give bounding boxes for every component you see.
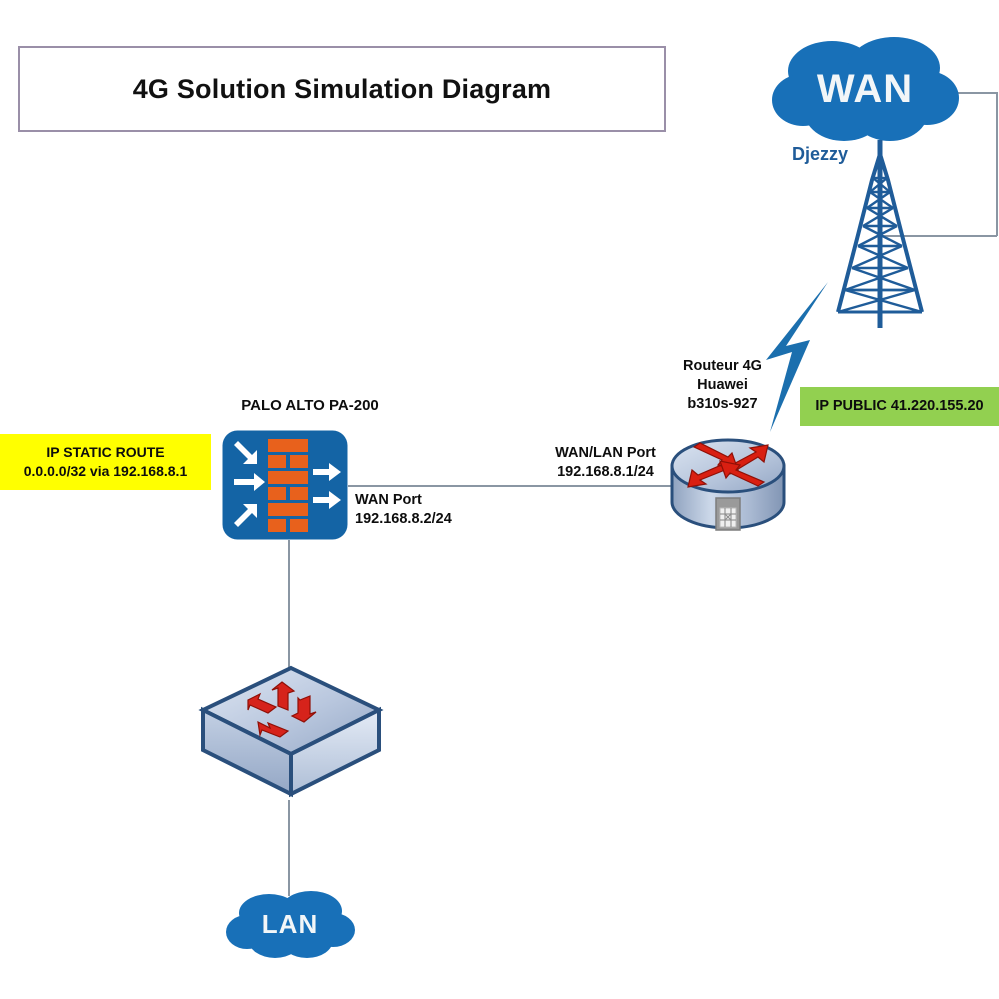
firewall-label-wrap: PALO ALTO PA-200 <box>180 396 440 415</box>
cell-tower <box>820 140 940 335</box>
static-route-callout: IP STATIC ROUTE 0.0.0.0/32 via 192.168.8… <box>0 434 211 490</box>
firewall-port-label-line1: WAN Port <box>355 491 515 510</box>
link-firewall-to-switch <box>288 540 290 680</box>
router-4g-label-line2: Huawei <box>650 376 795 395</box>
router-4g-label-line3: b310s-927 <box>650 395 795 414</box>
link-wan-to-tower-vertical <box>996 92 998 236</box>
static-route-line1: IP STATIC ROUTE <box>46 443 164 462</box>
firewall-label: PALO ALTO PA-200 <box>180 396 440 415</box>
static-route-line2: 0.0.0.0/32 via 192.168.8.1 <box>24 462 187 481</box>
switch <box>196 662 386 802</box>
link-switch-to-lan <box>288 800 290 896</box>
firewall-port-label-line2: 192.168.8.2/24 <box>355 510 515 529</box>
cell-tower-icon <box>820 140 940 335</box>
firewall <box>221 429 349 541</box>
cloud-icon <box>225 890 355 962</box>
wan-cloud: WAN <box>770 35 960 150</box>
router-4g-label: Routeur 4G Huawei b310s-927 <box>650 357 795 414</box>
cloud-icon <box>770 35 960 150</box>
router-4g-label-line1: Routeur 4G <box>650 357 795 376</box>
link-firewall-to-router <box>348 485 673 487</box>
router-port-label-line2: 192.168.8.1/24 <box>523 463 688 482</box>
router-port-label-line1: WAN/LAN Port <box>523 444 688 463</box>
firewall-port-label: WAN Port 192.168.8.2/24 <box>355 491 515 529</box>
router-port-label: WAN/LAN Port 192.168.8.1/24 <box>523 444 688 482</box>
diagram-canvas: 4G Solution Simulation Diagram WAN Djezz… <box>0 0 999 999</box>
lan-cloud: LAN <box>225 890 355 962</box>
switch-icon <box>196 662 386 802</box>
ip-public-callout: IP PUBLIC 41.220.155.20 <box>800 387 999 426</box>
diagram-title-box: 4G Solution Simulation Diagram <box>18 46 666 132</box>
firewall-icon <box>221 429 349 541</box>
page-title: 4G Solution Simulation Diagram <box>133 74 552 105</box>
ip-public-text: IP PUBLIC 41.220.155.20 <box>815 397 983 416</box>
